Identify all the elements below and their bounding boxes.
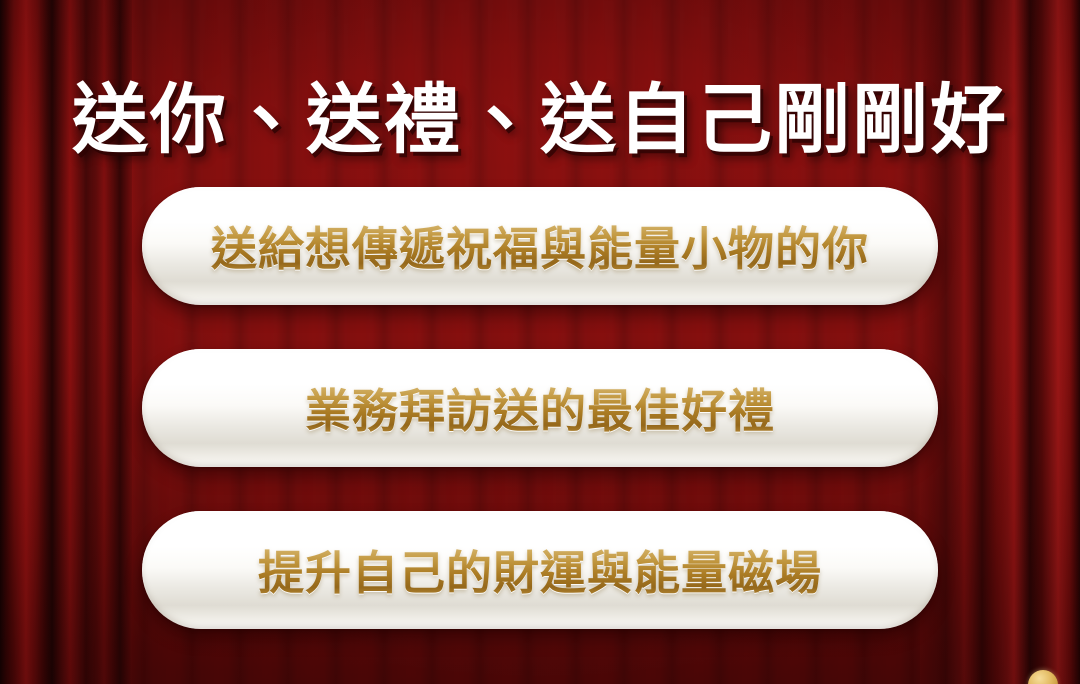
benefit-pill-1[interactable]: 送給想傳遞祝福與能量小物的你 xyxy=(142,187,938,305)
benefit-pill-3[interactable]: 提升自己的財運與能量磁場 xyxy=(142,511,938,629)
benefit-list: 送給想傳遞祝福與能量小物的你 業務拜訪送的最佳好禮 提升自己的財運與能量磁場 xyxy=(142,187,938,629)
benefit-pill-2-label: 業務拜訪送的最佳好禮 xyxy=(305,375,775,441)
benefit-pill-3-label: 提升自己的財運與能量磁場 xyxy=(258,537,822,603)
page-title: 送你、送禮、送自己剛剛好 xyxy=(0,77,1080,162)
benefit-pill-2[interactable]: 業務拜訪送的最佳好禮 xyxy=(142,349,938,467)
promo-banner: 送你、送禮、送自己剛剛好 送給想傳遞祝福與能量小物的你 業務拜訪送的最佳好禮 提… xyxy=(0,0,1080,684)
benefit-pill-1-label: 送給想傳遞祝福與能量小物的你 xyxy=(211,213,869,279)
